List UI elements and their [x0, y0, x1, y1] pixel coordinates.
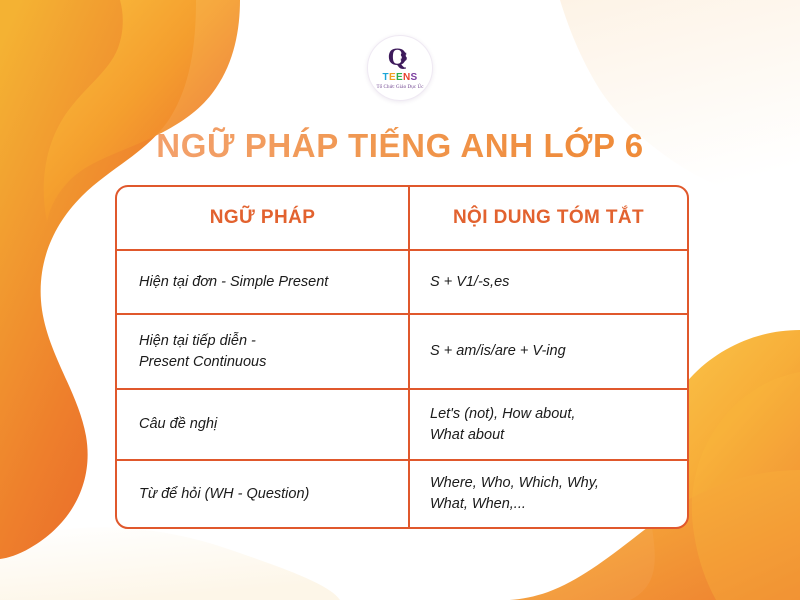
- cell-summary: Let's (not), How about, What about: [410, 390, 687, 459]
- table-row: Câu đề nghị Let's (not), How about, What…: [117, 390, 687, 461]
- cell-summary-text: Where, Who, Which, Why, What, When,...: [430, 473, 599, 515]
- cell-grammar-text: Hiện tại tiếp diễn - Present Continuous: [139, 331, 266, 373]
- table-header-row: NGỮ PHÁP NỘI DUNG TÓM TẮT: [117, 187, 687, 251]
- cell-grammar: Hiện tại đơn - Simple Present: [117, 251, 410, 313]
- slide-canvas: QS TEENS Tổ Chức Giáo Dục Úc NGỮ PHÁP TI…: [0, 0, 800, 600]
- logo-letter-s: S: [410, 72, 417, 83]
- table-header-summary: NỘI DUNG TÓM TẮT: [410, 187, 687, 249]
- cell-grammar-text: Hiện tại đơn - Simple Present: [139, 272, 328, 293]
- cell-summary: S + V1/-s,es: [410, 251, 687, 313]
- table-row: Hiện tại đơn - Simple Present S + V1/-s,…: [117, 251, 687, 315]
- cell-summary: S + am/is/are + V-ing: [410, 315, 687, 388]
- logo-letter-e2: E: [396, 72, 403, 83]
- page-title: NGỮ PHÁP TIẾNG ANH LỚP 6: [0, 126, 800, 166]
- grammar-summary-table: NGỮ PHÁP NỘI DUNG TÓM TẮT Hiện tại đơn -…: [115, 185, 689, 529]
- table-row: Hiện tại tiếp diễn - Present Continuous …: [117, 315, 687, 390]
- logo-brand-wordmark: TEENS: [368, 73, 432, 83]
- cell-grammar-text: Câu đề nghị: [139, 414, 217, 435]
- logo-tagline: Tổ Chức Giáo Dục Úc: [368, 85, 432, 91]
- logo-monogram-s: S: [400, 49, 406, 64]
- cell-grammar: Từ để hỏi (WH - Question): [117, 461, 410, 527]
- cell-summary-text: S + V1/-s,es: [430, 272, 509, 293]
- cell-summary: Where, Who, Which, Why, What, When,...: [410, 461, 687, 527]
- brand-logo: QS TEENS Tổ Chức Giáo Dục Úc: [367, 35, 433, 101]
- cell-grammar: Câu đề nghị: [117, 390, 410, 459]
- logo-letter-e1: E: [389, 72, 396, 83]
- logo-circle-background: QS TEENS Tổ Chức Giáo Dục Úc: [367, 35, 433, 101]
- bottom-right-highlight: [692, 372, 800, 600]
- table-row: Từ để hỏi (WH - Question) Where, Who, Wh…: [117, 461, 687, 527]
- logo-monogram: QS: [368, 45, 432, 73]
- table-header-grammar: NGỮ PHÁP: [117, 187, 410, 249]
- cell-grammar-text: Từ để hỏi (WH - Question): [139, 484, 309, 505]
- cell-summary-text: S + am/is/are + V-ing: [430, 341, 566, 362]
- bottom-left-tint-blob: [0, 527, 340, 600]
- top-right-tint-blob: [560, 0, 800, 210]
- cell-summary-text: Let's (not), How about, What about: [430, 404, 575, 446]
- cell-grammar: Hiện tại tiếp diễn - Present Continuous: [117, 315, 410, 388]
